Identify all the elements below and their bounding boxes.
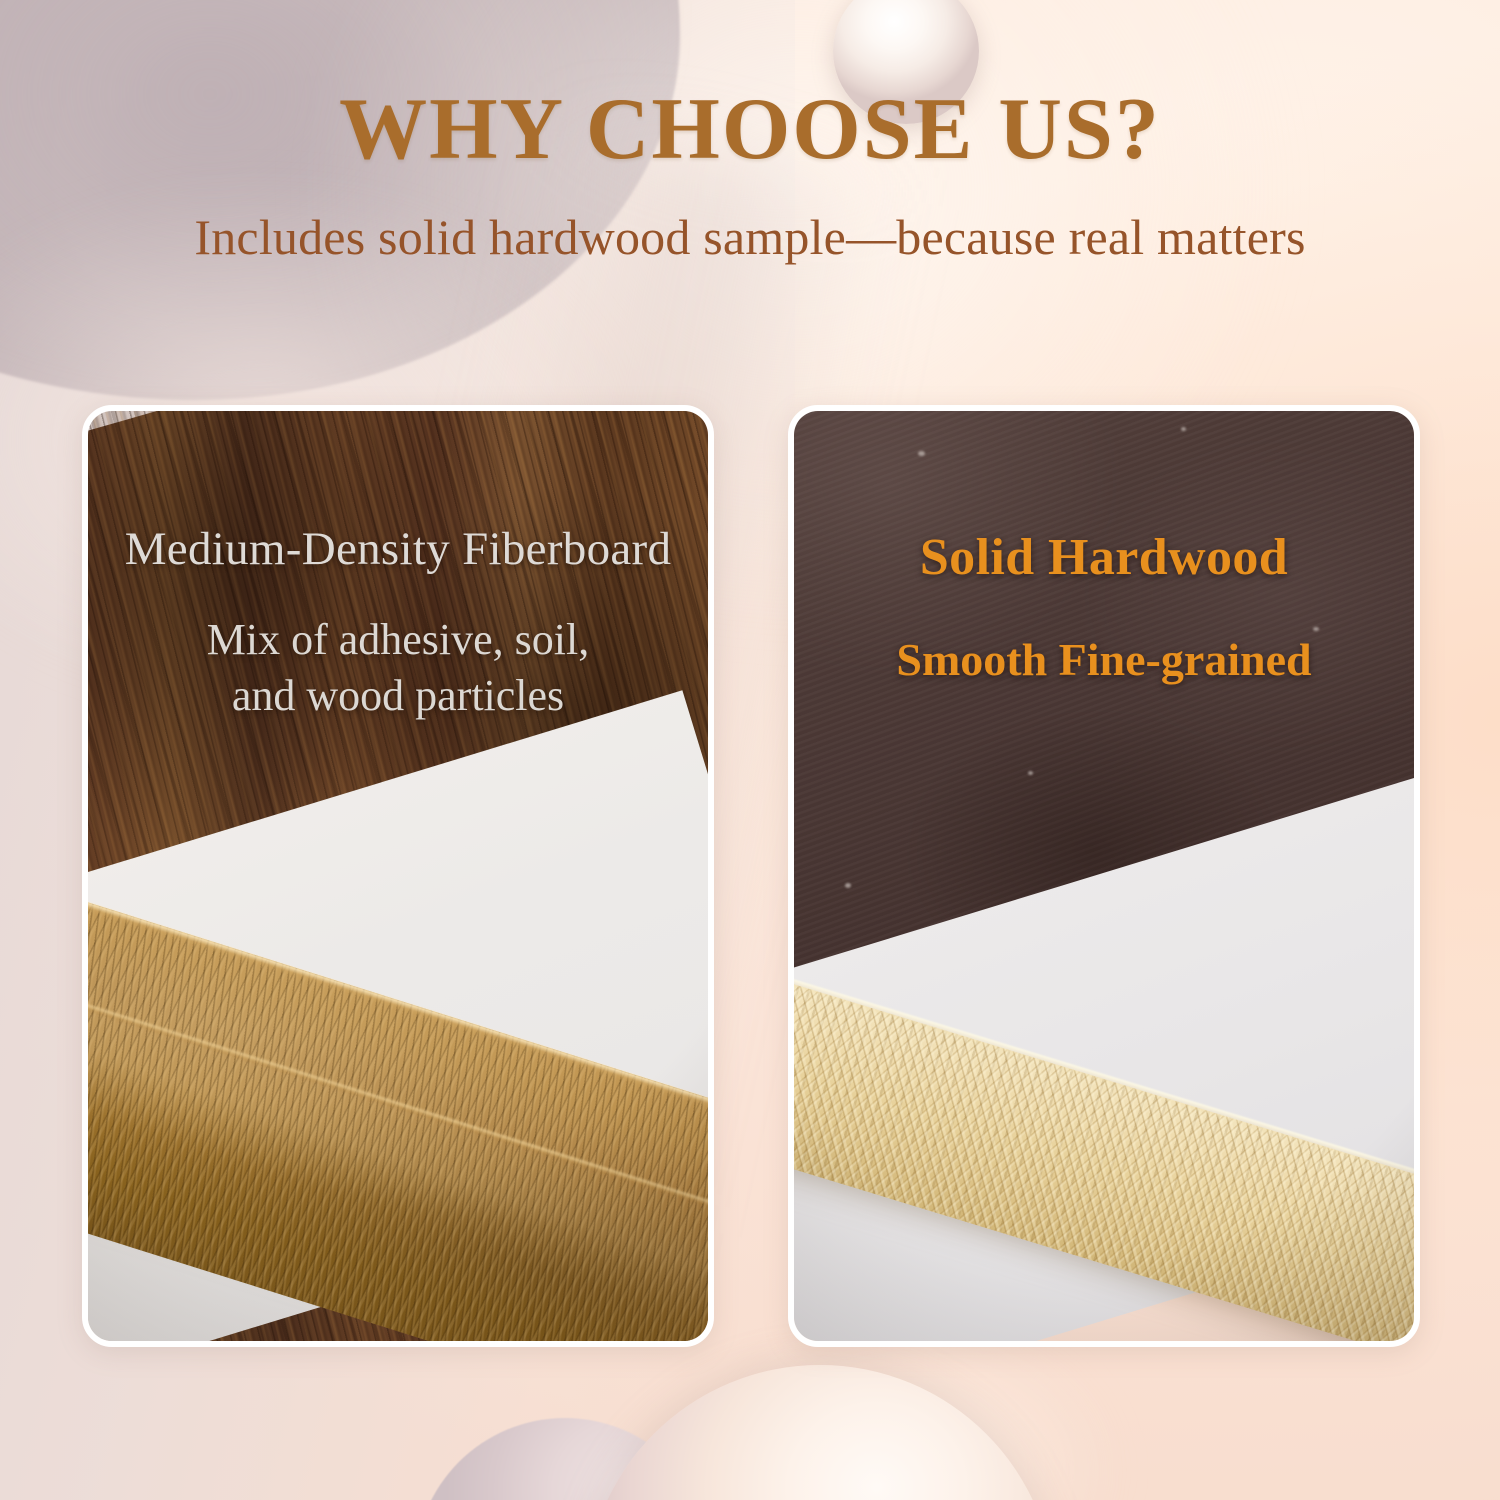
mdf-description: Mix of adhesive, soil, and wood particle…: [114, 576, 682, 725]
panel-mdf: Medium-Density Fiberboard Mix of adhesiv…: [82, 405, 714, 1347]
promo-graphic: WHY CHOOSE US? Includes solid hardwood s…: [0, 0, 1500, 1500]
page-title: WHY CHOOSE US?: [0, 0, 1500, 174]
page-subtitle: Includes solid hardwood sample—because r…: [0, 174, 1500, 265]
mdf-description-line-2: and wood particles: [232, 671, 564, 720]
hardwood-description: Smooth Fine-grained: [820, 586, 1388, 687]
header-block: WHY CHOOSE US? Includes solid hardwood s…: [0, 0, 1500, 265]
hardwood-material-name: Solid Hardwood: [820, 529, 1388, 586]
mdf-description-line-1: Mix of adhesive, soil,: [207, 615, 590, 664]
mdf-label-group: Medium-Density Fiberboard Mix of adhesiv…: [88, 523, 708, 724]
panel-hardwood: Solid Hardwood Smooth Fine-grained: [788, 405, 1420, 1347]
hardwood-label-group: Solid Hardwood Smooth Fine-grained: [794, 529, 1414, 687]
mdf-material-name: Medium-Density Fiberboard: [114, 523, 682, 576]
